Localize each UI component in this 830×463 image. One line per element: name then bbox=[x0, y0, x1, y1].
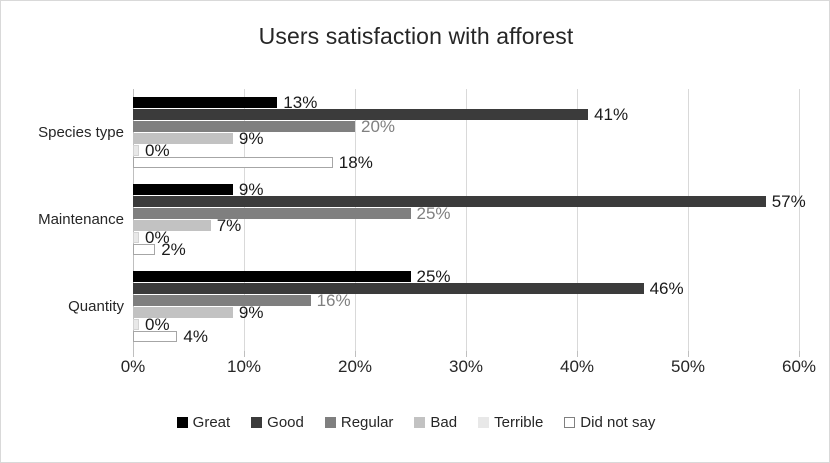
bar-row: 9% bbox=[133, 307, 799, 319]
bar-quantity-regular[interactable] bbox=[133, 295, 311, 306]
x-axis-tick-50: 50% bbox=[671, 357, 705, 377]
bar-maintenance-terrible[interactable] bbox=[133, 232, 139, 243]
legend-label-terrible: Terrible bbox=[494, 414, 543, 431]
legend-swatch-bad-icon bbox=[414, 417, 425, 428]
x-axis-tick-60: 60% bbox=[782, 357, 816, 377]
legend-item-did-not-say[interactable]: Did not say bbox=[564, 414, 655, 431]
legend-label-bad: Bad bbox=[430, 414, 457, 431]
bar-row: 41% bbox=[133, 109, 799, 121]
legend-label-regular: Regular bbox=[341, 414, 394, 431]
bar-row: 4% bbox=[133, 331, 799, 343]
bar-label-maintenance-did-not-say: 2% bbox=[161, 240, 186, 260]
legend-swatch-good-icon bbox=[251, 417, 262, 428]
x-axis-tick-30: 30% bbox=[449, 357, 483, 377]
bar-species-type-did-not-say[interactable] bbox=[133, 157, 333, 168]
plot-area: 13%41%20%9%0%18%9%57%25%7%0%2%25%46%16%9… bbox=[133, 89, 799, 351]
bar-quantity-great[interactable] bbox=[133, 271, 411, 282]
legend-label-great: Great bbox=[193, 414, 231, 431]
bar-species-type-great[interactable] bbox=[133, 97, 277, 108]
bar-row: 57% bbox=[133, 196, 799, 208]
bar-row: 9% bbox=[133, 184, 799, 196]
chart-legend: GreatGoodRegularBadTerribleDid not say bbox=[1, 414, 830, 431]
legend-item-regular[interactable]: Regular bbox=[325, 414, 394, 431]
bar-quantity-terrible[interactable] bbox=[133, 319, 139, 330]
legend-item-good[interactable]: Good bbox=[251, 414, 304, 431]
legend-swatch-terrible-icon bbox=[478, 417, 489, 428]
bar-species-type-terrible[interactable] bbox=[133, 145, 139, 156]
y-axis-label-maintenance: Maintenance bbox=[38, 211, 124, 228]
bar-group-species-type: 13%41%20%9%0%18% bbox=[133, 97, 799, 169]
y-axis-label-quantity: Quantity bbox=[68, 298, 124, 315]
y-axis-category-labels: Species typeMaintenanceQuantity bbox=[1, 89, 124, 351]
bar-row: 2% bbox=[133, 244, 799, 256]
legend-item-terrible[interactable]: Terrible bbox=[478, 414, 543, 431]
y-axis-label-species-type: Species type bbox=[38, 124, 124, 141]
bar-maintenance-regular[interactable] bbox=[133, 208, 411, 219]
x-axis-tick-10: 10% bbox=[227, 357, 261, 377]
bar-row: 18% bbox=[133, 157, 799, 169]
legend-item-great[interactable]: Great bbox=[177, 414, 231, 431]
x-axis-tick-20: 20% bbox=[338, 357, 372, 377]
bar-maintenance-did-not-say[interactable] bbox=[133, 244, 155, 255]
bar-label-species-type-did-not-say: 18% bbox=[339, 153, 373, 173]
chart-container: Users satisfaction with afforest Species… bbox=[0, 0, 830, 463]
chart-title: Users satisfaction with afforest bbox=[1, 23, 830, 50]
legend-swatch-did-not-say-icon bbox=[564, 417, 575, 428]
x-axis-tick-0: 0% bbox=[121, 357, 146, 377]
bar-group-quantity: 25%46%16%9%0%4% bbox=[133, 271, 799, 343]
x-axis-tick-labels: 0%10%20%30%40%50%60% bbox=[1, 357, 830, 385]
bar-row: 16% bbox=[133, 295, 799, 307]
legend-swatch-great-icon bbox=[177, 417, 188, 428]
bar-row: 0% bbox=[133, 319, 799, 331]
gridline-60 bbox=[799, 89, 800, 351]
legend-label-good: Good bbox=[267, 414, 304, 431]
legend-label-did-not-say: Did not say bbox=[580, 414, 655, 431]
bar-row: 0% bbox=[133, 145, 799, 157]
bar-quantity-good[interactable] bbox=[133, 283, 644, 294]
bar-row: 7% bbox=[133, 220, 799, 232]
bar-quantity-did-not-say[interactable] bbox=[133, 331, 177, 342]
bar-row: 13% bbox=[133, 97, 799, 109]
bar-row: 46% bbox=[133, 283, 799, 295]
legend-swatch-regular-icon bbox=[325, 417, 336, 428]
bar-label-quantity-did-not-say: 4% bbox=[183, 327, 208, 347]
bar-group-maintenance: 9%57%25%7%0%2% bbox=[133, 184, 799, 256]
bar-row: 25% bbox=[133, 271, 799, 283]
bar-maintenance-great[interactable] bbox=[133, 184, 233, 195]
bar-row: 0% bbox=[133, 232, 799, 244]
bar-row: 20% bbox=[133, 121, 799, 133]
x-axis-tick-40: 40% bbox=[560, 357, 594, 377]
bar-row: 9% bbox=[133, 133, 799, 145]
legend-item-bad[interactable]: Bad bbox=[414, 414, 457, 431]
